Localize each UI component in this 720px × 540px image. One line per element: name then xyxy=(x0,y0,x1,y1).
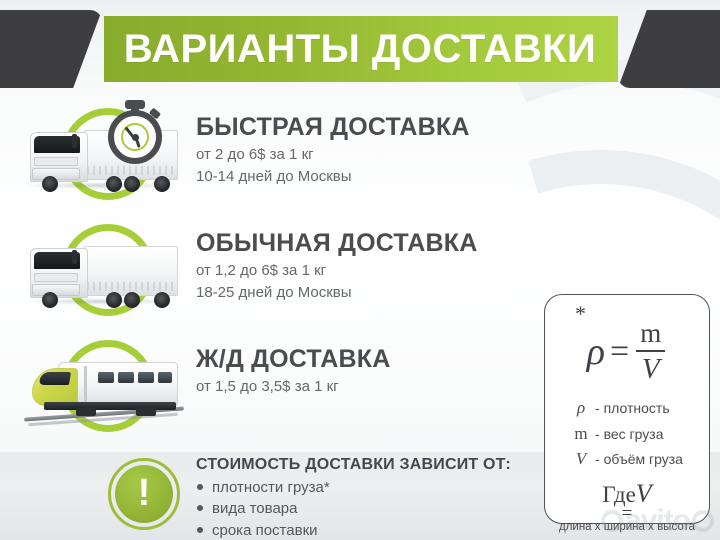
option-title: БЫСТРАЯ ДОСТАВКА xyxy=(196,114,540,140)
list-item: плотности груза* xyxy=(196,477,526,498)
legend-description: - вес груза xyxy=(595,424,663,445)
train-icon xyxy=(24,354,184,428)
legend-description: - плотность xyxy=(595,398,670,419)
header-ribbon: ВАРИАНТЫ ДОСТАВКИ xyxy=(0,10,720,88)
option-text: Ж/Д ДОСТАВКА от 1,5 до 3,5$ за 1 кг xyxy=(196,336,540,398)
option-duration: 18-25 дней до Москвы xyxy=(196,282,540,304)
footnote-asterisk: * xyxy=(575,301,586,327)
formula-fraction: m V xyxy=(634,320,667,384)
option-text: ОБЫЧНАЯ ДОСТАВКА от 1,2 до 6$ за 1 кг 18… xyxy=(196,220,540,304)
option-text: БЫСТРАЯ ДОСТАВКА от 2 до 6$ за 1 кг 10-1… xyxy=(196,104,540,188)
legend-row: m - вес груза xyxy=(571,421,683,447)
cost-factor-list: плотности груза* вида товара срока поста… xyxy=(196,477,526,540)
delivery-option-rail: Ж/Д ДОСТАВКА от 1,5 до 3,5$ за 1 кг xyxy=(0,336,540,436)
option-price: от 1,2 до 6$ за 1 кг xyxy=(196,260,540,282)
option-title: Ж/Д ДОСТАВКА xyxy=(196,346,540,372)
option-price: от 1,5 до 3,5$ за 1 кг xyxy=(196,376,540,398)
where-equals: = xyxy=(553,508,701,519)
option-duration: 10-14 дней до Москвы xyxy=(196,166,540,188)
density-formula-card: * ρ = m V ρ - плотность m - вес груза V … xyxy=(544,294,710,524)
cost-note-title: СТОИМОСТЬ ДОСТАВКИ ЗАВИСИТ ОТ: xyxy=(196,456,526,474)
formula-rho: ρ xyxy=(587,333,605,371)
formula-numerator: m xyxy=(634,318,667,348)
list-item: вида товара xyxy=(196,498,526,519)
density-formula: ρ = m V xyxy=(553,317,701,387)
list-item: срока поставки xyxy=(196,520,526,540)
legend-description: - объём груза xyxy=(595,449,683,470)
cost-note-block: СТОИМОСТЬ ДОСТАВКИ ЗАВИСИТ ОТ: плотности… xyxy=(196,456,526,540)
page-title: ВАРИАНТЫ ДОСТАВКИ xyxy=(0,10,720,88)
formula-equals: = xyxy=(610,335,629,369)
option-price: от 2 до 6$ за 1 кг xyxy=(196,144,540,166)
legend-symbol: m xyxy=(571,421,591,447)
fraction-bar xyxy=(636,350,665,352)
legend-row: V - объём груза xyxy=(571,446,683,472)
legend-row: ρ - плотность xyxy=(571,395,683,421)
legend-symbol: ρ xyxy=(571,395,591,421)
train-icon-wrap xyxy=(0,336,196,436)
truck-icon-wrap xyxy=(0,220,196,320)
delivery-options-infographic: ВАРИАНТЫ ДОСТАВКИ xyxy=(0,0,720,540)
option-title: ОБЫЧНАЯ ДОСТАВКА xyxy=(196,230,540,256)
delivery-option-standard: ОБЫЧНАЯ ДОСТАВКА от 1,2 до 6$ за 1 кг 18… xyxy=(0,220,540,320)
legend-symbol: V xyxy=(571,446,591,472)
where-symbol: V xyxy=(636,479,652,508)
truck-icon xyxy=(20,240,180,312)
volume-dimensions: длина x ширина x высота xyxy=(553,521,701,533)
stopwatch-icon xyxy=(106,98,168,164)
exclamation-mark: ! xyxy=(108,458,180,530)
delivery-option-fast: БЫСТРАЯ ДОСТАВКА от 2 до 6$ за 1 кг 10-1… xyxy=(0,104,540,204)
formula-denominator: V xyxy=(636,353,666,385)
formula-legend: ρ - плотность m - вес груза V - объём гр… xyxy=(571,395,683,472)
exclamation-icon: ! xyxy=(108,458,180,530)
truck-with-stopwatch-icon xyxy=(0,104,196,204)
